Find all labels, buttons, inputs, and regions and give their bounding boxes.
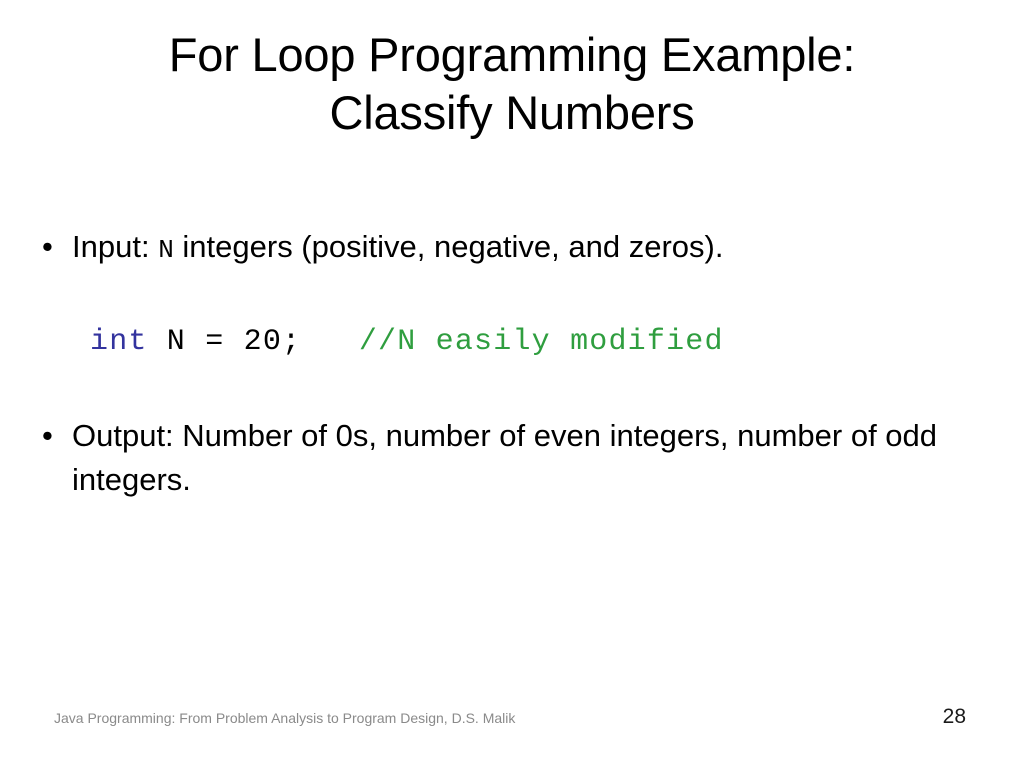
slide-title: For Loop Programming Example: Classify N… (50, 26, 974, 142)
slide-canvas: For Loop Programming Example: Classify N… (0, 0, 1024, 768)
bullet-marker-icon: • (36, 225, 72, 269)
code-token-comment: //N easily modified (359, 325, 724, 359)
footer-attribution: Java Programming: From Problem Analysis … (54, 708, 515, 728)
slide-title-line-1: For Loop Programming Example: (50, 26, 974, 84)
slide-page-number: 28 (943, 704, 966, 730)
code-token-keyword: int (90, 325, 148, 359)
bullet-input-prefix: Input: (72, 229, 158, 264)
bullet-marker-icon: • (36, 414, 72, 458)
code-snippet: int N = 20; //N easily modified (36, 322, 986, 362)
slide-title-line-2: Classify Numbers (50, 84, 974, 142)
bullet-item-output: • Output: Number of 0s, number of even i… (36, 414, 986, 502)
bullet-text-output: Output: Number of 0s, number of even int… (72, 414, 986, 502)
bullet-input-inline-code: N (158, 235, 174, 265)
code-token-gap (301, 325, 359, 359)
bullet-item-input: • Input: N integers (positive, negative,… (36, 225, 986, 272)
bullet-input-suffix: integers (positive, negative, and zeros)… (174, 229, 724, 264)
slide-body: • Input: N integers (positive, negative,… (36, 225, 986, 502)
code-token-statement: N = 20; (148, 325, 302, 359)
bullet-text-input: Input: N integers (positive, negative, a… (72, 225, 986, 272)
